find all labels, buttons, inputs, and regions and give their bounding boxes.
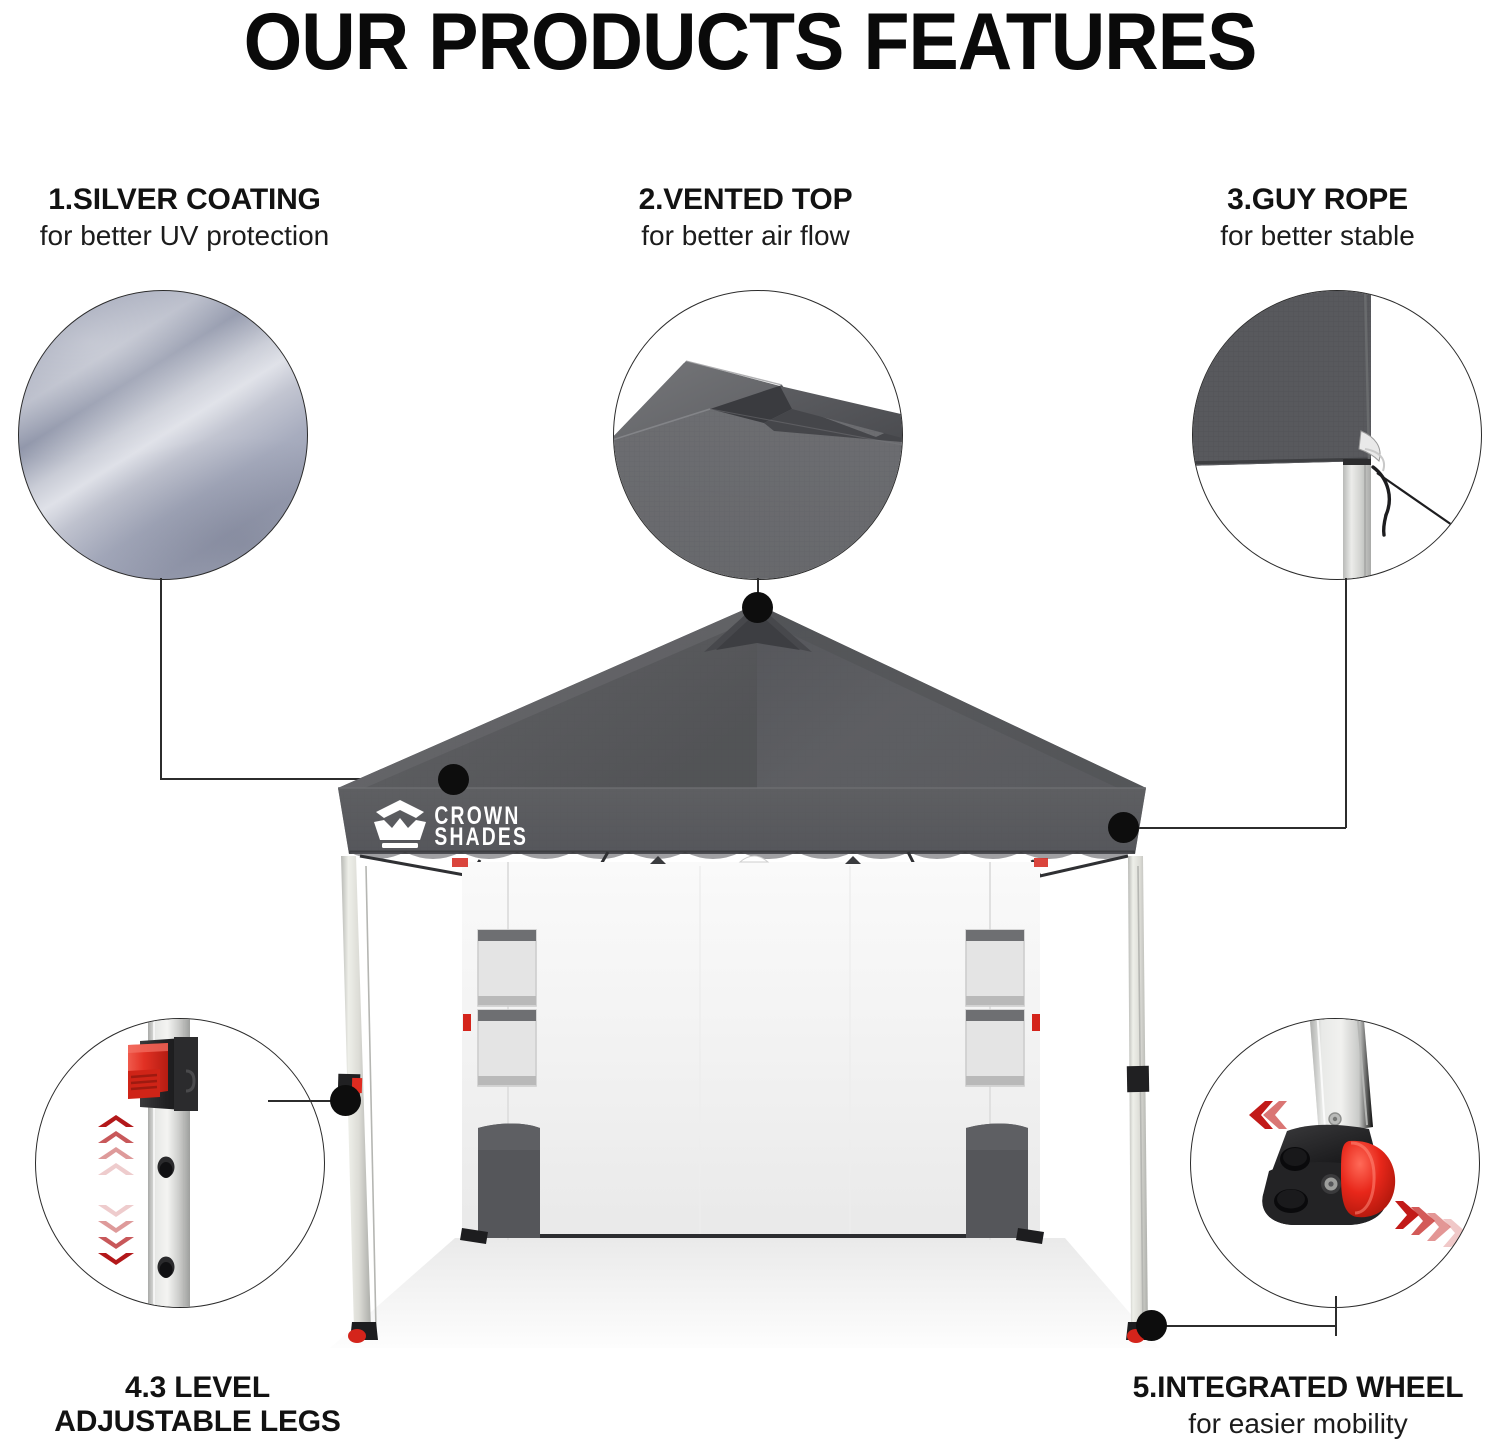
leg-front-right [1126,856,1152,1343]
silver-sheen [19,291,307,579]
brand-line-1: CROWN [434,802,520,830]
connector-line-silver-horizontal [160,778,455,780]
brand-logo: CROWN SHADES [374,800,528,851]
brand-line-2: SHADES [434,823,528,851]
callout-guy-rope [1192,290,1482,580]
feature-title-3: 3.GUY ROPE [1130,183,1500,217]
connector-dot-silver [438,764,469,795]
connector-dot-wheel [1136,1310,1167,1341]
connector-dot-legs [330,1085,361,1116]
connector-line-silver-vertical [160,578,162,780]
page-title: OUR PRODUCTS FEATURES [53,2,1448,83]
callout-silver-coating [18,290,308,580]
feature-subtitle-5: for easier mobility [1098,1407,1498,1441]
sidewall-pocket-left-bottom [478,1010,536,1086]
connector-line-wheel-horizontal [1152,1325,1336,1327]
connector-line-wheel-vertical [1335,1296,1337,1336]
feature-title-5: 5.INTEGRATED WHEEL [1098,1371,1498,1405]
feature-subtitle-2: for better air flow [558,219,933,253]
feature-label-silver-coating: 1.SILVER COATING for better UV protectio… [0,183,372,252]
integrated-wheel-illustration [1191,1019,1480,1308]
vented-top-illustration [614,291,903,580]
infographic-page: OUR PRODUCTS FEATURES 1.SILVER COATING f… [0,0,1500,1452]
sidewall-pocket-right-bottom [966,1010,1024,1086]
feature-title-2: 2.VENTED TOP [558,183,933,217]
callout-integrated-wheel [1190,1018,1480,1308]
guy-rope-illustration [1193,291,1482,580]
feature-title-4-line2: ADJUSTABLE LEGS [0,1405,395,1439]
feature-title-4: 4.3 LEVEL [0,1371,395,1405]
sidewall-pocket-right-top [966,930,1024,1006]
callout-adjustable-legs [35,1018,325,1308]
connector-line-rope-vertical [1345,578,1347,828]
feature-label-vented-top: 2.VENTED TOP for better air flow [558,183,933,252]
connector-dot-vent [742,592,773,623]
weight-bag-left [478,1124,540,1239]
feature-subtitle-1: for better UV protection [0,219,372,253]
feature-title-1: 1.SILVER COATING [0,183,372,217]
connector-line-rope-horizontal [1124,827,1346,829]
feature-label-adjustable-legs: 4.3 LEVEL ADJUSTABLE LEGS [0,1371,395,1438]
crown-logo-icon [374,800,426,848]
feature-label-guy-rope: 3.GUY ROPE for better stable [1130,183,1500,252]
adjustable-legs-illustration [36,1019,325,1308]
callout-vented-top [613,290,903,580]
sidewall-pocket-left-top [478,930,536,1006]
feature-subtitle-3: for better stable [1130,219,1500,253]
feature-label-integrated-wheel: 5.INTEGRATED WHEEL for easier mobility [1098,1371,1498,1440]
connector-dot-rope [1108,812,1139,843]
weight-bag-right [966,1124,1028,1239]
